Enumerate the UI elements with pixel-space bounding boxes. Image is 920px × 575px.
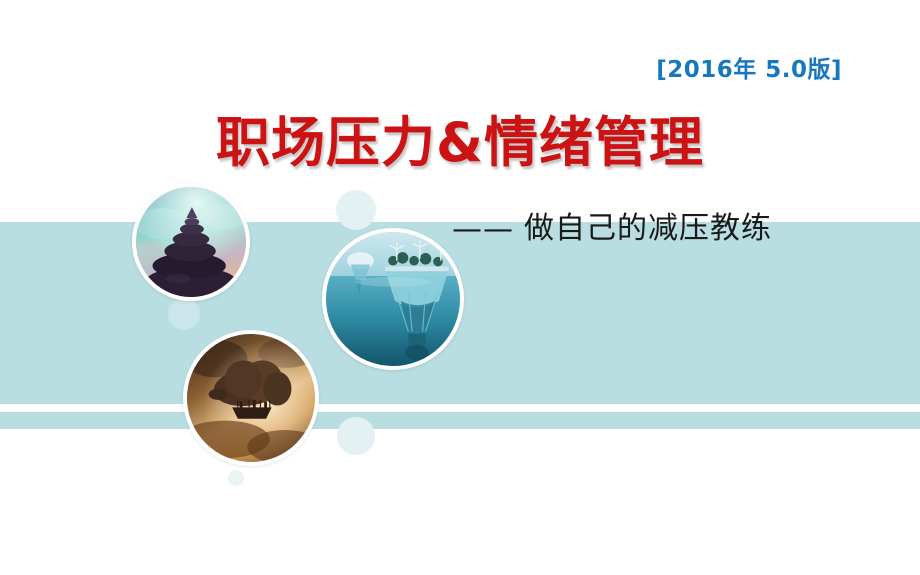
decorative-bubble-top bbox=[336, 190, 376, 230]
underwater-island-icon bbox=[326, 232, 460, 366]
subtitle-dash: —— bbox=[452, 212, 514, 247]
subtitle-text: 做自己的减压教练 bbox=[524, 211, 772, 246]
photo-airship bbox=[183, 330, 319, 466]
airship-icon bbox=[187, 334, 315, 462]
presentation-slide: [2016年 5.0版] 职场压力&情绪管理 ——做自己的减压教练 bbox=[0, 0, 920, 575]
version-badge: [2016年 5.0版] bbox=[656, 50, 842, 84]
background-band-strip bbox=[0, 412, 920, 429]
decorative-bubble-bottom bbox=[337, 417, 375, 455]
zen-stones-icon bbox=[136, 187, 246, 297]
slide-subtitle: ——做自己的减压教练 bbox=[452, 203, 772, 247]
photo-underwater-island bbox=[322, 228, 464, 370]
decorative-bubble-left bbox=[168, 298, 200, 330]
slide-title: 职场压力&情绪管理 bbox=[0, 116, 920, 170]
photo-zen-stones bbox=[132, 183, 250, 301]
decorative-bubble-small bbox=[228, 470, 244, 486]
